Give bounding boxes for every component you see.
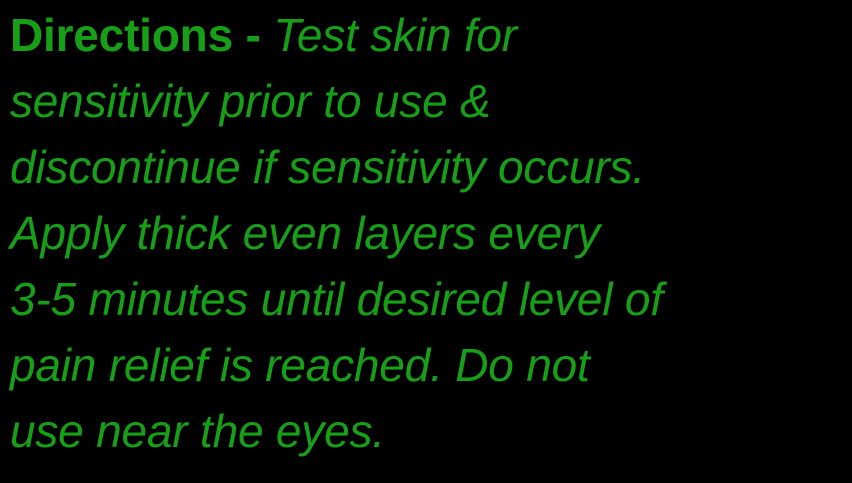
directions-separator: -: [233, 9, 273, 61]
directions-line-5: 3-5 minutes until desired level of: [10, 266, 852, 332]
directions-line-6: pain relief is reached. Do not: [10, 332, 852, 398]
directions-label-panel: Directions - Test skin for sensitivity p…: [0, 0, 852, 483]
directions-line-1-text: Test skin for: [273, 9, 517, 61]
directions-text-block: Directions - Test skin for sensitivity p…: [10, 2, 852, 464]
directions-line-4: Apply thick even layers every: [10, 200, 852, 266]
directions-line-7: use near the eyes.: [10, 398, 852, 464]
directions-line-2: sensitivity prior to use &: [10, 68, 852, 134]
directions-heading: Directions: [10, 9, 233, 61]
directions-line-1: Directions - Test skin for: [10, 2, 852, 68]
directions-line-3: discontinue if sensitivity occurs.: [10, 134, 852, 200]
